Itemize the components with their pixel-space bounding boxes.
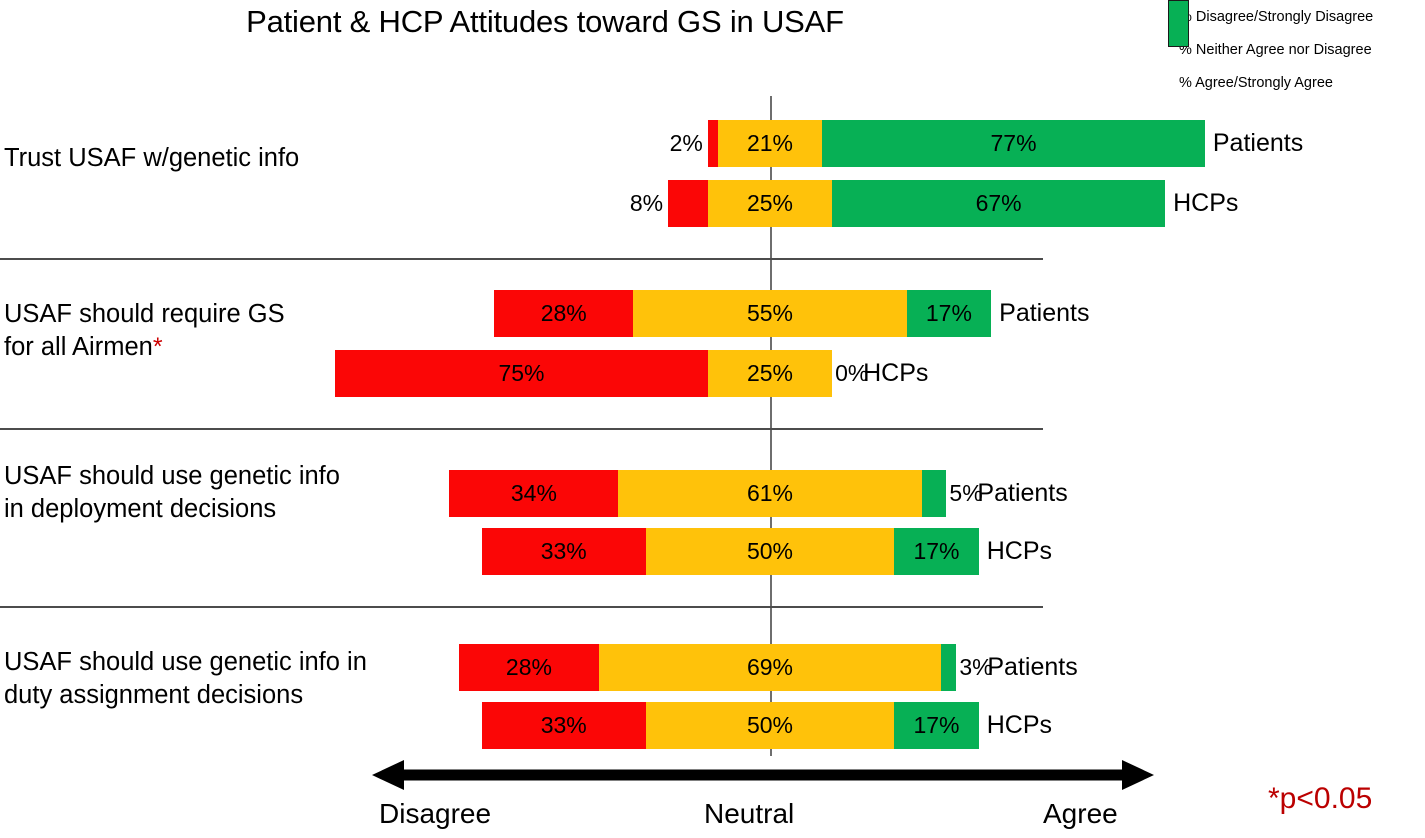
bar-segment-disagree: 34% bbox=[449, 470, 618, 517]
bar-segment-agree: 3% bbox=[941, 644, 956, 691]
series-label: Patients bbox=[999, 290, 1089, 337]
group-separator bbox=[0, 428, 1043, 430]
series-label: HCPs bbox=[863, 350, 928, 397]
series-label: Patients bbox=[1213, 120, 1303, 167]
bar-row: 33%50%17%HCPs bbox=[0, 702, 1425, 749]
bar-segment-neutral: 50% bbox=[646, 528, 895, 575]
bar-segment-neutral: 61% bbox=[618, 470, 921, 517]
bar-row: 33%50%17%HCPs bbox=[0, 528, 1425, 575]
axis-label-neutral: Neutral bbox=[704, 798, 794, 830]
bar-segment-neutral: 55% bbox=[633, 290, 906, 337]
series-label: HCPs bbox=[1173, 180, 1238, 227]
bar-segment-neutral: 69% bbox=[599, 644, 942, 691]
group-separator bbox=[0, 606, 1043, 608]
bar-segment-neutral: 25% bbox=[708, 350, 832, 397]
pvalue-footnote: *p<0.05 bbox=[1268, 782, 1372, 816]
bar-segment-neutral: 25% bbox=[708, 180, 832, 227]
bar-segment-disagree: 33% bbox=[482, 528, 646, 575]
bar-segment-agree: 67% bbox=[832, 180, 1165, 227]
bar-segment-disagree: 28% bbox=[494, 290, 633, 337]
axis-label-disagree: Disagree bbox=[379, 798, 491, 830]
bar-segment-agree: 17% bbox=[894, 528, 978, 575]
bar-segment-agree: 17% bbox=[907, 290, 991, 337]
series-label: Patients bbox=[987, 644, 1077, 691]
bar-segment-agree: 77% bbox=[822, 120, 1205, 167]
bar-row: 28%69%3%Patients bbox=[0, 644, 1425, 691]
bar-row: 34%61%5%Patients bbox=[0, 470, 1425, 517]
series-label: HCPs bbox=[987, 702, 1052, 749]
bar-segment-neutral: 21% bbox=[718, 120, 822, 167]
scale-arrow-icon bbox=[372, 760, 1154, 790]
bar-segment-agree: 5% bbox=[922, 470, 947, 517]
bar-segment-disagree: 75% bbox=[335, 350, 708, 397]
bar-segment-neutral: 50% bbox=[646, 702, 895, 749]
bar-row: 28%55%17%Patients bbox=[0, 290, 1425, 337]
group-separator bbox=[0, 258, 1043, 260]
bar-row: 2%21%77%Patients bbox=[0, 120, 1425, 167]
bar-row: 8%25%67%HCPs bbox=[0, 180, 1425, 227]
chart-plot-area: Trust USAF w/genetic info2%21%77%Patient… bbox=[0, 0, 1425, 838]
axis-label-agree: Agree bbox=[1043, 798, 1118, 830]
series-label: Patients bbox=[977, 470, 1067, 517]
bar-value-label-disagree: 8% bbox=[630, 190, 663, 217]
bar-segment-agree: 17% bbox=[894, 702, 978, 749]
bar-segment-disagree: 28% bbox=[459, 644, 598, 691]
bar-row: 75%25%0%HCPs bbox=[0, 350, 1425, 397]
bar-segment-disagree: 2% bbox=[708, 120, 718, 167]
bar-segment-disagree: 8% bbox=[668, 180, 708, 227]
series-label: HCPs bbox=[987, 528, 1052, 575]
bar-value-label-disagree: 2% bbox=[670, 130, 703, 157]
bar-segment-disagree: 33% bbox=[482, 702, 646, 749]
